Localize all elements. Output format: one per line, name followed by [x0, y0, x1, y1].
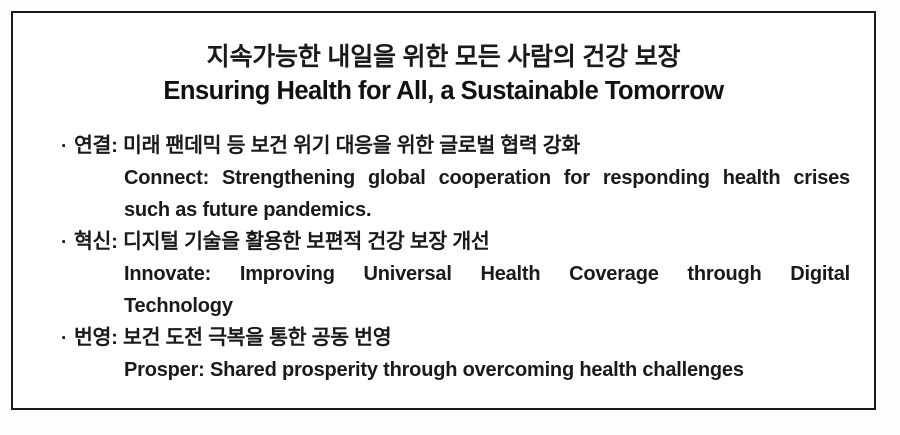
bullet-english-line-prosper-1: Prosper: Shared prosperity through overc…: [124, 354, 850, 386]
slide-frame: 지속가능한 내일을 위한 모든 사람의 건강 보장 Ensuring Healt…: [11, 11, 876, 410]
bullet-english-line-innovate-1: Innovate: Improving Universal Health Cov…: [124, 258, 850, 290]
title-english: Ensuring Health for All, a Sustainable T…: [13, 76, 874, 108]
slide-body: ·연결: 미래 팬데믹 등 보건 위기 대응을 위한 글로벌 협력 강화 Con…: [61, 130, 850, 386]
bullet-english-line-connect-2: such as future pandemics.: [124, 194, 850, 226]
title-korean: 지속가능한 내일을 위한 모든 사람의 건강 보장: [13, 42, 874, 73]
bullet-english-line-innovate-2: Technology: [124, 290, 850, 322]
bullet-korean-text: 혁신: 디지털 기술을 활용한 보편적 건강 보장 개선: [74, 230, 490, 253]
bullet-group-prosper: ·번영: 보건 도전 극복을 통한 공동 번영 Prosper: Shared …: [61, 322, 850, 386]
bullet-korean-text: 연결: 미래 팬데믹 등 보건 위기 대응을 위한 글로벌 협력 강화: [74, 134, 580, 157]
bullet-group-innovate: ·혁신: 디지털 기술을 활용한 보편적 건강 보장 개선 Innovate: …: [61, 226, 850, 322]
slide-content: 지속가능한 내일을 위한 모든 사람의 건강 보장 Ensuring Healt…: [13, 13, 874, 408]
bullet-item-korean-prosper: ·번영: 보건 도전 극복을 통한 공동 번영: [61, 322, 850, 354]
slide-title-block: 지속가능한 내일을 위한 모든 사람의 건강 보장 Ensuring Healt…: [13, 42, 874, 107]
bullet-item-korean-innovate: ·혁신: 디지털 기술을 활용한 보편적 건강 보장 개선: [61, 226, 850, 258]
bullet-item-korean-connect: ·연결: 미래 팬데믹 등 보건 위기 대응을 위한 글로벌 협력 강화: [61, 130, 850, 162]
bullet-group-connect: ·연결: 미래 팬데믹 등 보건 위기 대응을 위한 글로벌 협력 강화 Con…: [61, 130, 850, 226]
bullet-dot-icon: ·: [61, 323, 74, 355]
bullet-dot-icon: ·: [61, 227, 74, 259]
bullet-korean-text: 번영: 보건 도전 극복을 통한 공동 번영: [74, 326, 391, 349]
bullet-dot-icon: ·: [61, 131, 74, 163]
bullet-english-line-connect-1: Connect: Strengthening global cooperatio…: [124, 162, 850, 194]
